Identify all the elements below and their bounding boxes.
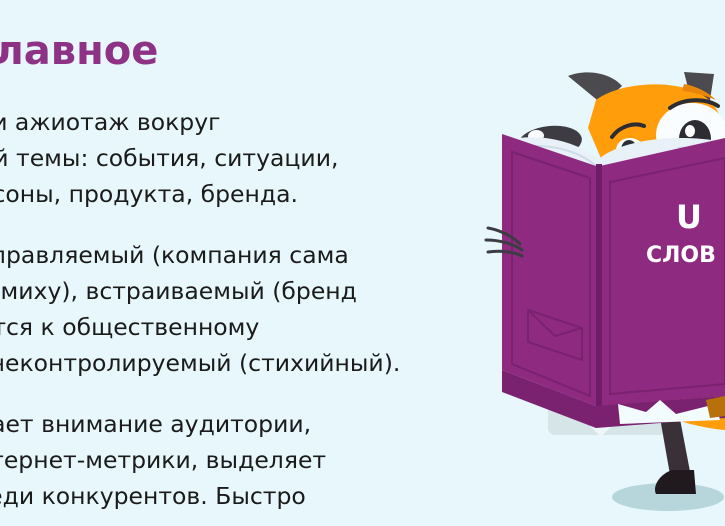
paragraph-types: хайпа: управляемый (компания сама скает … — [0, 237, 508, 381]
paragraph-line: отажу), неконтролируемый (стихийный). — [0, 345, 508, 381]
slide-body-text: шумиха и ажиотаж вокруг деленной темы: с… — [0, 104, 508, 526]
paragraph-line: шает интернет-метрики, выделяет — [0, 442, 508, 478]
paragraph-line: анию среди конкурентов. Быстро — [0, 478, 508, 514]
book-cover-title: U — [676, 198, 702, 236]
fox-reading-book-illustration: U СЛОВ — [470, 0, 725, 526]
paragraph-effects: привлекает внимание аудитории, шает инте… — [0, 406, 508, 526]
paragraph-line: ния, персоны, продукта, бренда. — [0, 176, 508, 212]
paragraph-definition: шумиха и ажиотаж вокруг деленной темы: с… — [0, 104, 508, 212]
paragraph-line: деленной темы: события, ситуации, — [0, 140, 508, 176]
slide-canvas: йп: главное шумиха и ажиотаж вокруг деле… — [0, 0, 725, 526]
book-cover: U СЛОВ — [486, 134, 725, 428]
page-title: йп: главное — [0, 28, 408, 74]
book-cover-subtitle: СЛОВ — [646, 243, 716, 268]
paragraph-line: шумиха и ажиотаж вокруг — [0, 104, 508, 140]
paragraph-line: хайпа: управляемый (компания сама — [0, 237, 508, 273]
paragraph-line: ает и несет репутационные риски. — [0, 514, 508, 526]
paragraph-line: скает шумиху), встраиваемый (бренд — [0, 273, 508, 309]
paragraph-line: привлекает внимание аудитории, — [0, 406, 508, 442]
paragraph-line: оединяется к общественному — [0, 309, 508, 345]
